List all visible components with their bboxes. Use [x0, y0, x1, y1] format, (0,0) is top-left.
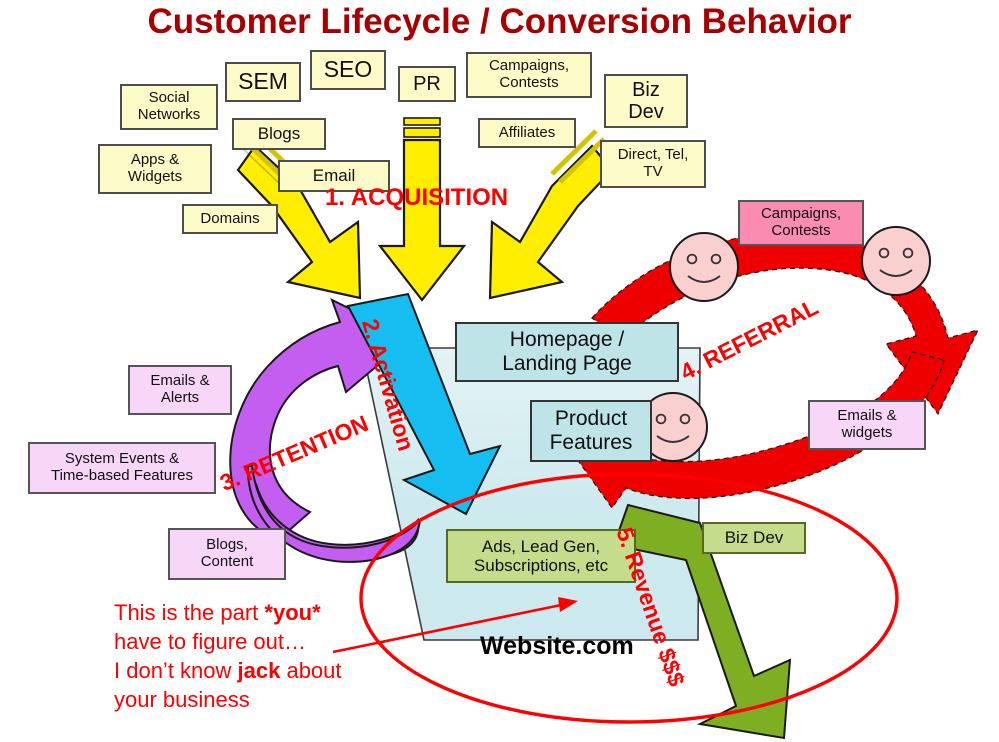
- biz-dev-label: BizDev: [628, 79, 664, 124]
- campaigns-contests-referral-box: Campaigns,Contests: [738, 200, 864, 246]
- campaigns-contests-label: Campaigns,Contests: [489, 58, 569, 92]
- ads-lead-gen-label: Ads, Lead Gen,Subscriptions, etc: [474, 537, 608, 575]
- direct-tel-tv-label: Direct, Tel,TV: [618, 147, 689, 181]
- website-label: Website.com: [480, 632, 634, 661]
- blogs-box: Blogs: [232, 118, 326, 150]
- system-events-label: System Events &Time-based Features: [51, 451, 193, 485]
- emails-alerts-box: Emails &Alerts: [128, 365, 232, 415]
- annotation-line: I don’t know jack about: [114, 656, 414, 685]
- blogs-content-box: Blogs,Content: [168, 528, 286, 580]
- pr-box: PR: [398, 66, 456, 102]
- apps-widgets-label: Apps &Widgets: [128, 152, 182, 186]
- annotation-line: have to figure out…: [114, 627, 414, 656]
- seo-box: SEO: [310, 50, 386, 90]
- social-networks-box: SocialNetworks: [120, 84, 218, 130]
- emails-alerts-label: Emails &Alerts: [150, 373, 209, 407]
- sem-label: SEM: [238, 69, 288, 95]
- smiley-face-right: [862, 227, 930, 295]
- blogs-label: Blogs: [258, 124, 301, 143]
- ads-lead-gen-box: Ads, Lead Gen,Subscriptions, etc: [446, 529, 636, 583]
- annotation-line: This is the part *you*: [114, 598, 414, 627]
- apps-widgets-box: Apps &Widgets: [98, 144, 212, 194]
- social-networks-label: SocialNetworks: [138, 90, 201, 124]
- sem-box: SEM: [225, 62, 301, 102]
- acquisition-label: 1. ACQUISITION: [325, 184, 508, 212]
- affiliates-box: Affiliates: [478, 118, 576, 148]
- emails-widgets-box: Emails &widgets: [808, 400, 926, 450]
- blogs-content-label: Blogs,Content: [201, 537, 254, 571]
- domains-box: Domains: [182, 204, 278, 234]
- direct-tel-tv-box: Direct, Tel,TV: [600, 140, 706, 188]
- diagram-canvas: Customer Lifecycle / Conversion Behavior…: [0, 0, 999, 742]
- campaigns-contests-referral-label: Campaigns,Contests: [761, 206, 841, 240]
- homepage-landing-page-box: Homepage /Landing Page: [455, 322, 679, 382]
- email-label: Email: [313, 166, 356, 185]
- annotation-text: This is the part *you*have to figure out…: [114, 598, 414, 714]
- pr-label: PR: [413, 73, 441, 95]
- campaigns-contests-box: Campaigns,Contests: [466, 52, 592, 98]
- affiliates-label: Affiliates: [499, 125, 555, 142]
- page-title: Customer Lifecycle / Conversion Behavior: [0, 2, 999, 42]
- product-features-label: ProductFeatures: [550, 407, 633, 454]
- homepage-landing-page-label: Homepage /Landing Page: [502, 328, 632, 375]
- biz-dev-revenue-label: Biz Dev: [725, 528, 784, 547]
- biz-dev-box: BizDev: [604, 74, 688, 128]
- system-events-box: System Events &Time-based Features: [28, 442, 216, 494]
- biz-dev-revenue-box: Biz Dev: [702, 522, 806, 554]
- domains-label: Domains: [200, 211, 259, 228]
- product-features-box: ProductFeatures: [530, 400, 652, 462]
- acquisition-arrow-right: [490, 131, 612, 298]
- annotation-line: your business: [114, 685, 414, 714]
- smiley-face-left: [670, 233, 738, 301]
- emails-widgets-label: Emails &widgets: [837, 408, 896, 442]
- seo-label: SEO: [324, 57, 373, 83]
